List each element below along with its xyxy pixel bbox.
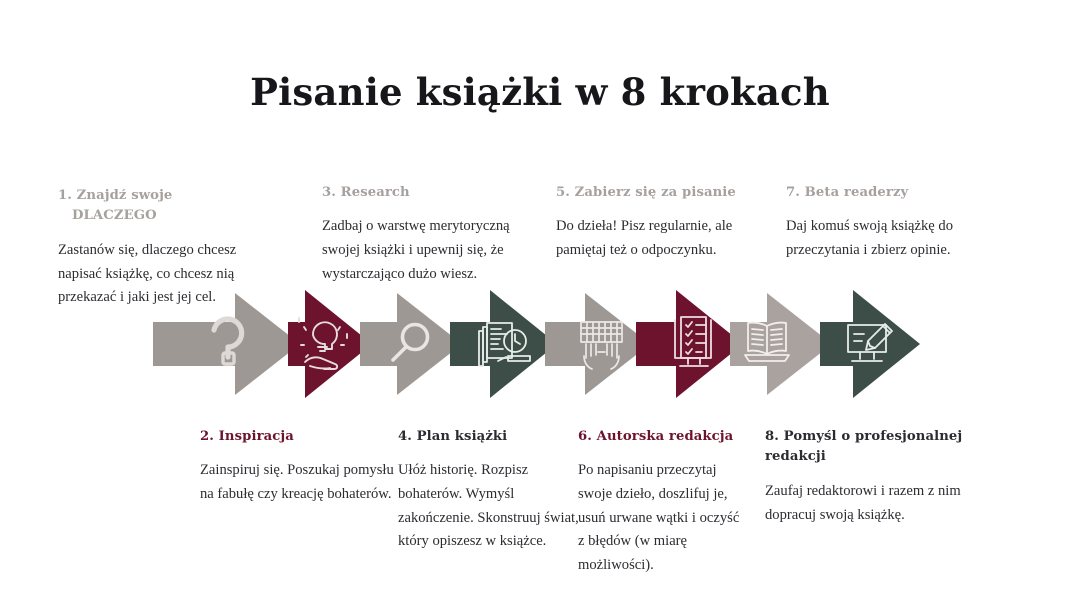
arrow-shape-6[interactable]: [636, 290, 743, 398]
step-block-7: 7. Beta readerzy Daj komuś swoją książkę…: [786, 183, 986, 263]
arrow-step-2[interactable]: [288, 290, 372, 398]
step-block-5: 5. Zabierz się za pisanie Do dzieła! Pis…: [556, 183, 771, 263]
step-6-body: Po napisaniu przeczytaj swoje dzieło, do…: [578, 459, 748, 577]
step-1-heading: 1. Znajdź swoje DLACZEGO: [58, 186, 270, 227]
step-2-heading: 2. Inspiracja: [200, 427, 400, 447]
step-3-heading: 3. Research: [322, 183, 544, 203]
arrow-shape-4[interactable]: [450, 290, 557, 398]
arrow-step-5[interactable]: [545, 293, 650, 395]
step-3-body: Zadbaj o warstwę merytoryczną swojej ksi…: [322, 215, 544, 286]
step-4-body: Ułóż historię. Rozpisz bohaterów. Wymyśl…: [398, 459, 588, 554]
arrow-step-8[interactable]: [820, 290, 920, 398]
step-2-body: Zainspiruj się. Poszukaj pomysłu na fabu…: [200, 459, 400, 506]
step-8-body: Zaufaj redaktorowi i razem z nim dopracu…: [765, 480, 970, 527]
step-block-8: 8. Pomyśl o profesjonalnej redakcji Zauf…: [765, 427, 970, 527]
step-block-1: 1. Znajdź swoje DLACZEGO Zastanów się, d…: [58, 186, 270, 310]
arrow-step-7[interactable]: [730, 293, 832, 395]
arrow-shape-8[interactable]: [820, 290, 920, 398]
step-block-4: 4. Plan książki Ułóż historię. Rozpisz b…: [398, 427, 588, 554]
step-5-heading: 5. Zabierz się za pisanie: [556, 183, 771, 203]
step-7-heading: 7. Beta readerzy: [786, 183, 986, 203]
arrow-step-6[interactable]: [636, 290, 743, 398]
step-6-heading: 6. Autorska redakcja: [578, 427, 748, 447]
arrow-step-4[interactable]: [450, 290, 557, 398]
page-title: Pisanie książki w 8 krokach: [0, 70, 1080, 114]
arrow-shape-3[interactable]: [360, 293, 462, 395]
step-7-body: Daj komuś swoją książkę do przeczytania …: [786, 215, 986, 262]
step-block-2: 2. Inspiracja Zainspiruj się. Poszukaj p…: [200, 427, 400, 507]
step-1-heading-line2: DLACZEGO: [58, 206, 157, 226]
step-block-6: 6. Autorska redakcja Po napisaniu przecz…: [578, 427, 748, 578]
step-1-heading-line1: 1. Znajdź swoje: [58, 188, 172, 203]
arrow-shape-5[interactable]: [545, 293, 650, 395]
step-block-3: 3. Research Zadbaj o warstwę merytoryczn…: [322, 183, 544, 286]
step-1-body: Zastanów się, dlaczego chcesz napisać ks…: [58, 239, 270, 310]
arrow-step-3[interactable]: [360, 293, 462, 395]
step-4-heading: 4. Plan książki: [398, 427, 588, 447]
arrow-shape-7[interactable]: [730, 293, 832, 395]
step-8-heading: 8. Pomyśl o profesjonalnej redakcji: [765, 427, 970, 468]
arrow-shape-2[interactable]: [288, 290, 372, 398]
infographic-page: Pisanie książki w 8 krokach: [0, 0, 1080, 608]
step-5-body: Do dzieła! Pisz regularnie, ale pamiętaj…: [556, 215, 771, 262]
